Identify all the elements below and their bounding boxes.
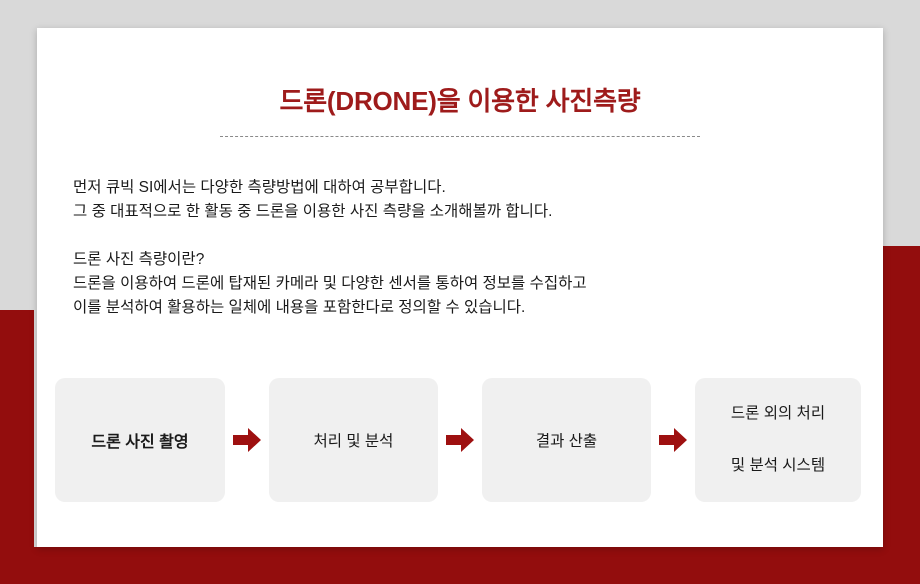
flow-step-label: 처리 및 분석 [314,429,394,451]
flow-step-label: 결과 산출 [536,429,597,451]
paragraph-line: 드론 사진 측량이란? [73,248,883,272]
decorative-red-shape-left [0,310,34,584]
paragraph-line: 그 중 대표적으로 한 활동 중 드론을 이용한 사진 측량을 소개해볼까 합니… [73,200,883,224]
flow-step-4[interactable]: 드론 외의 처리 및 분석 시스템 [695,378,861,502]
slide-canvas: 드론(DRONE)을 이용한 사진측량 먼저 큐빅 SI에서는 다양한 측량방법… [0,0,920,584]
process-flow-diagram: 드론 사진 촬영 처리 및 분석 결과 산출 [55,378,883,502]
content-card: 드론(DRONE)을 이용한 사진측량 먼저 큐빅 SI에서는 다양한 측량방법… [37,28,883,547]
flow-step-label: 드론 사진 촬영 [91,428,188,452]
arrow-right-icon [225,427,269,453]
paragraph-spacer [73,224,883,248]
arrow-right-icon [438,427,482,453]
body-text: 먼저 큐빅 SI에서는 다양한 측량방법에 대하여 공부합니다. 그 중 대표적… [37,137,883,320]
flow-step-label-line1: 드론 외의 처리 [731,388,825,440]
flow-step-1[interactable]: 드론 사진 촬영 [55,378,225,502]
flow-step-2[interactable]: 처리 및 분석 [269,378,438,502]
decorative-red-shape-bottom [0,547,920,584]
arrow-right-icon [651,427,695,453]
paragraph-line: 이를 분석하여 활용하는 일체에 내용을 포함한다로 정의할 수 있습니다. [73,296,883,320]
paragraph-line: 먼저 큐빅 SI에서는 다양한 측량방법에 대하여 공부합니다. [73,176,883,200]
flow-step-label-line2: 및 분석 시스템 [731,440,825,492]
page-title: 드론(DRONE)을 이용한 사진측량 [37,28,883,118]
paragraph-definition: 드론 사진 측량이란? 드론을 이용하여 드론에 탑재된 카메라 및 다양한 센… [73,248,883,320]
paragraph-intro: 먼저 큐빅 SI에서는 다양한 측량방법에 대하여 공부합니다. 그 중 대표적… [73,176,883,224]
paragraph-line: 드론을 이용하여 드론에 탑재된 카메라 및 다양한 센서를 통하여 정보를 수… [73,272,883,296]
flow-step-3[interactable]: 결과 산출 [482,378,651,502]
